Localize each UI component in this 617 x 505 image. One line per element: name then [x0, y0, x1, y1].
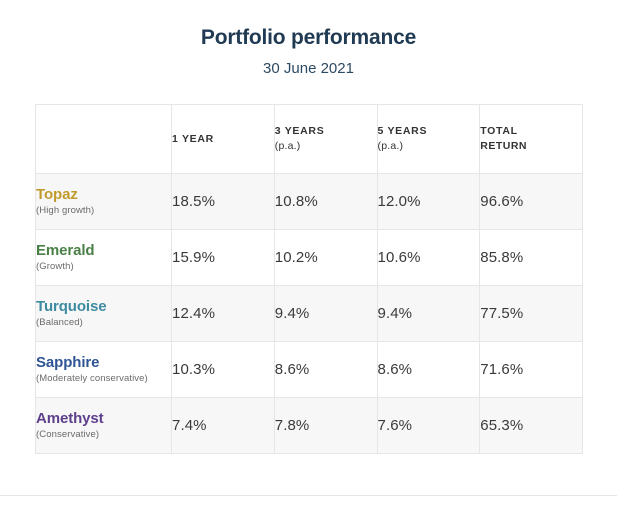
fund-name-sapphire: Sapphire — [36, 354, 171, 372]
performance-page: Portfolio performance 30 June 2021 1 YEA… — [0, 0, 617, 505]
page-subtitle: 30 June 2021 — [0, 52, 617, 79]
fund-cell-amethyst: Amethyst (Conservative) — [36, 398, 172, 454]
table-row: Amethyst (Conservative) 7.4% 7.8% 7.6% 6… — [36, 398, 583, 454]
value-topaz-three-years: 10.8% — [274, 174, 377, 230]
value-amethyst-one-year: 7.4% — [172, 398, 275, 454]
page-header: Portfolio performance 30 June 2021 — [0, 0, 617, 79]
value-sapphire-five-years: 8.6% — [377, 342, 480, 398]
value-turquoise-total-return: 77.5% — [480, 286, 583, 342]
column-header-total-return-line2: RETURN — [480, 139, 582, 154]
table-row: Emerald (Growth) 15.9% 10.2% 10.6% 85.8% — [36, 230, 583, 286]
page-divider — [0, 495, 617, 496]
value-sapphire-one-year: 10.3% — [172, 342, 275, 398]
fund-cell-topaz: Topaz (High growth) — [36, 174, 172, 230]
table-row: Sapphire (Moderately conservative) 10.3%… — [36, 342, 583, 398]
fund-desc-topaz: (High growth) — [36, 204, 171, 217]
performance-table: 1 YEAR 3 YEARS (p.a.) 5 YEARS (p.a.) TOT… — [35, 104, 583, 454]
value-turquoise-three-years: 9.4% — [274, 286, 377, 342]
column-header-one-year: 1 YEAR — [172, 105, 275, 174]
value-amethyst-five-years: 7.6% — [377, 398, 480, 454]
fund-desc-amethyst: (Conservative) — [36, 428, 171, 441]
value-amethyst-three-years: 7.8% — [274, 398, 377, 454]
value-topaz-one-year: 18.5% — [172, 174, 275, 230]
column-header-three-years-label: 3 YEARS — [275, 125, 325, 137]
fund-desc-turquoise: (Balanced) — [36, 316, 171, 329]
column-header-total-return-line1: TOTAL — [480, 125, 518, 137]
fund-name-turquoise: Turquoise — [36, 298, 171, 316]
column-header-three-years-pa: (p.a.) — [275, 139, 377, 154]
value-sapphire-total-return: 71.6% — [480, 342, 583, 398]
table-row: Turquoise (Balanced) 12.4% 9.4% 9.4% 77.… — [36, 286, 583, 342]
column-header-fund — [36, 105, 172, 174]
value-turquoise-one-year: 12.4% — [172, 286, 275, 342]
value-turquoise-five-years: 9.4% — [377, 286, 480, 342]
value-emerald-three-years: 10.2% — [274, 230, 377, 286]
value-emerald-five-years: 10.6% — [377, 230, 480, 286]
column-header-one-year-label: 1 YEAR — [172, 133, 214, 145]
value-emerald-one-year: 15.9% — [172, 230, 275, 286]
fund-name-emerald: Emerald — [36, 242, 171, 260]
fund-name-amethyst: Amethyst — [36, 410, 171, 428]
table-header: 1 YEAR 3 YEARS (p.a.) 5 YEARS (p.a.) TOT… — [36, 105, 583, 174]
column-header-five-years-pa: (p.a.) — [378, 139, 480, 154]
table-row: Topaz (High growth) 18.5% 10.8% 12.0% 96… — [36, 174, 583, 230]
page-title: Portfolio performance — [0, 24, 617, 52]
value-topaz-total-return: 96.6% — [480, 174, 583, 230]
fund-desc-sapphire: (Moderately conservative) — [36, 372, 171, 385]
fund-desc-emerald: (Growth) — [36, 260, 171, 273]
column-header-three-years: 3 YEARS (p.a.) — [274, 105, 377, 174]
fund-cell-turquoise: Turquoise (Balanced) — [36, 286, 172, 342]
column-header-five-years-label: 5 YEARS — [378, 125, 428, 137]
table-header-row: 1 YEAR 3 YEARS (p.a.) 5 YEARS (p.a.) TOT… — [36, 105, 583, 174]
fund-cell-emerald: Emerald (Growth) — [36, 230, 172, 286]
fund-cell-sapphire: Sapphire (Moderately conservative) — [36, 342, 172, 398]
value-amethyst-total-return: 65.3% — [480, 398, 583, 454]
column-header-five-years: 5 YEARS (p.a.) — [377, 105, 480, 174]
fund-name-topaz: Topaz — [36, 186, 171, 204]
column-header-total-return: TOTAL RETURN — [480, 105, 583, 174]
performance-table-container: 1 YEAR 3 YEARS (p.a.) 5 YEARS (p.a.) TOT… — [35, 104, 582, 454]
table-body: Topaz (High growth) 18.5% 10.8% 12.0% 96… — [36, 174, 583, 454]
value-sapphire-three-years: 8.6% — [274, 342, 377, 398]
value-emerald-total-return: 85.8% — [480, 230, 583, 286]
value-topaz-five-years: 12.0% — [377, 174, 480, 230]
